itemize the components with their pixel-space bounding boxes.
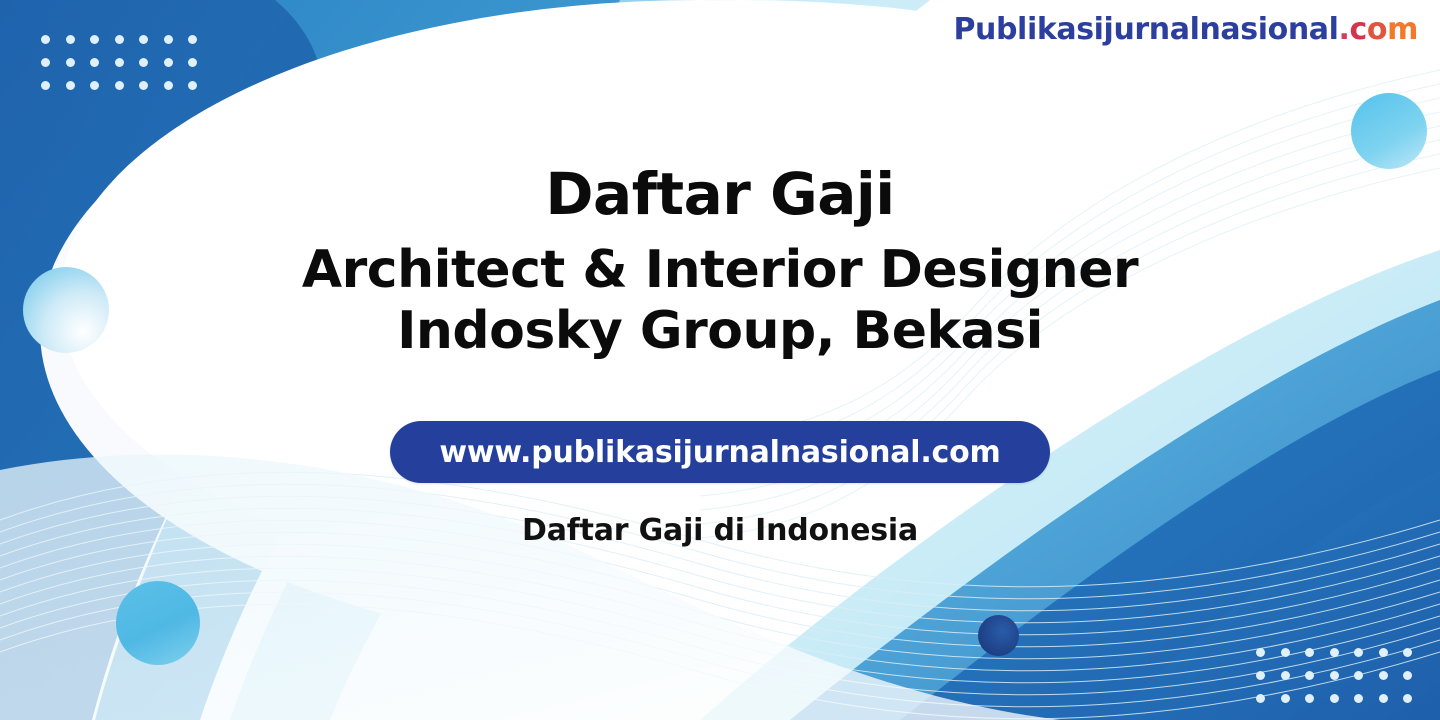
- website-url-label: www.publikasijurnalnasional.com: [439, 435, 1000, 470]
- logo-dot: .: [1339, 12, 1350, 47]
- title-main: Daftar Gaji: [0, 160, 1440, 228]
- banner-canvas: Publikasijurnalnasional.com Daftar Gaji …: [0, 0, 1440, 720]
- logo-letter-o: o: [1367, 12, 1387, 47]
- logo-main-text: Publikasijurnalnasional: [953, 12, 1338, 47]
- logo-letter-m: m: [1387, 12, 1418, 47]
- website-url-pill[interactable]: www.publikasijurnalnasional.com: [390, 421, 1050, 483]
- caption-text: Daftar Gaji di Indonesia: [0, 513, 1440, 548]
- content-layer: Publikasijurnalnasional.com Daftar Gaji …: [0, 0, 1440, 720]
- logo-letter-c: c: [1350, 12, 1367, 47]
- site-logo: Publikasijurnalnasional.com: [953, 12, 1418, 47]
- title-subtitle: Architect & Interior Designer Indosky Gr…: [190, 240, 1250, 363]
